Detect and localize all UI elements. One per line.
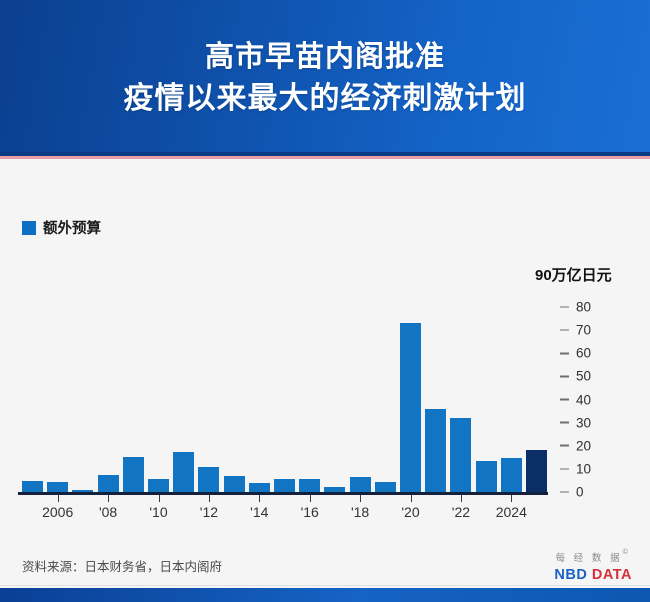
x-tick-'22 [461, 495, 462, 502]
x-tick-'18 [360, 495, 361, 502]
source-note: 资料来源：日本财务省，日本内阁府 [22, 556, 222, 575]
y-tick-dash-icon [560, 376, 569, 378]
bar-2011 [173, 452, 194, 492]
y-tick-70: 70 [560, 323, 591, 338]
y-tick-dash-icon [560, 445, 569, 447]
x-axis-label-16: '16 [301, 504, 319, 520]
y-axis-label-50: 50 [576, 369, 591, 384]
x-axis-label-20: '20 [401, 504, 419, 520]
bar-2025 [526, 450, 547, 492]
footer: 资料来源：日本财务省，日本内阁府 每 经 数 据© NBD DATA [0, 544, 650, 586]
copyright-mark: © [623, 549, 631, 556]
x-tick-'10 [159, 495, 160, 502]
brand-english: NBD DATA [554, 567, 632, 583]
y-tick-40: 40 [560, 392, 591, 407]
y-tick-0: 0 [560, 485, 584, 500]
chart-panel: 额外预算 90万亿日元 2006'08'10'12'14'16'18'20'22… [0, 159, 650, 544]
header-banner: 高市早苗内阁批准 疫情以来最大的经济刺激计划 [0, 0, 650, 158]
y-tick-dash-icon [560, 491, 569, 493]
y-axis-label-0: 0 [576, 485, 584, 500]
y-axis-label-20: 20 [576, 438, 591, 453]
x-axis-label-2024: 2024 [496, 504, 527, 520]
y-tick-dash-icon [560, 329, 569, 331]
page-title-line2: 疫情以来最大的经济刺激计划 [124, 78, 527, 121]
y-axis-label-80: 80 [576, 300, 591, 315]
y-tick-30: 30 [560, 415, 591, 430]
x-tick-'16 [310, 495, 311, 502]
x-axis-label-22: '22 [452, 504, 470, 520]
x-axis-label-08: '08 [99, 504, 117, 520]
bar-2015 [274, 479, 295, 492]
y-tick-dash-icon [560, 422, 569, 424]
bar-2019 [375, 482, 396, 492]
bars-layer [0, 159, 650, 544]
brand-logo: 每 经 数 据© NBD DATA [554, 548, 632, 583]
x-axis-label-10: '10 [149, 504, 167, 520]
page-title-line1: 高市早苗内阁批准 [205, 37, 445, 78]
x-axis-label-18: '18 [351, 504, 369, 520]
y-axis-label-40: 40 [576, 392, 591, 407]
y-tick-80: 80 [560, 300, 591, 315]
y-tick-20: 20 [560, 438, 591, 453]
bar-2010 [148, 479, 169, 492]
x-axis-label-2006: 2006 [42, 504, 73, 520]
x-tick-2024 [511, 495, 512, 502]
y-tick-60: 60 [560, 346, 591, 361]
bar-2008 [98, 475, 119, 492]
bar-2016 [299, 479, 320, 492]
y-axis-label-10: 10 [576, 461, 591, 476]
bar-2007 [72, 490, 93, 492]
infographic-page: 高市早苗内阁批准 疫情以来最大的经济刺激计划 额外预算 90万亿日元 2006'… [0, 0, 650, 602]
y-tick-50: 50 [560, 369, 591, 384]
y-tick-dash-icon [560, 352, 569, 354]
brand-chinese-text: 每 经 数 据 [556, 553, 623, 564]
bar-chart: 2006'08'10'12'14'16'18'20'222024 0102030… [0, 159, 650, 544]
y-tick-dash-icon [560, 306, 569, 308]
bar-2006 [47, 482, 68, 492]
bar-2017 [324, 487, 345, 492]
bar-2014 [249, 483, 270, 492]
brand-nbd: NBD [554, 567, 587, 583]
bar-2021 [425, 409, 446, 492]
brand-data: DATA [592, 567, 632, 583]
x-tick-'20 [411, 495, 412, 502]
bar-2005 [22, 481, 43, 492]
x-tick-'12 [209, 495, 210, 502]
x-tick-'08 [108, 495, 109, 502]
y-axis-label-60: 60 [576, 346, 591, 361]
bar-2018 [350, 477, 371, 492]
x-tick-2006 [58, 495, 59, 502]
x-axis-label-12: '12 [200, 504, 218, 520]
x-tick-'14 [259, 495, 260, 502]
bar-2020 [400, 323, 421, 492]
x-axis-label-14: '14 [250, 504, 268, 520]
footer-divider [0, 585, 650, 586]
y-tick-dash-icon [560, 468, 569, 470]
y-axis-label-30: 30 [576, 415, 591, 430]
y-axis-label-70: 70 [576, 323, 591, 338]
bar-2012 [198, 467, 219, 492]
bar-2013 [224, 476, 245, 492]
bar-2009 [123, 457, 144, 492]
y-tick-dash-icon [560, 399, 569, 401]
brand-chinese: 每 经 数 据© [556, 550, 631, 564]
y-tick-10: 10 [560, 461, 591, 476]
bar-2023 [476, 461, 497, 492]
bar-2022 [450, 418, 471, 492]
bottom-accent-strip [0, 588, 650, 602]
bar-2024 [501, 458, 522, 492]
